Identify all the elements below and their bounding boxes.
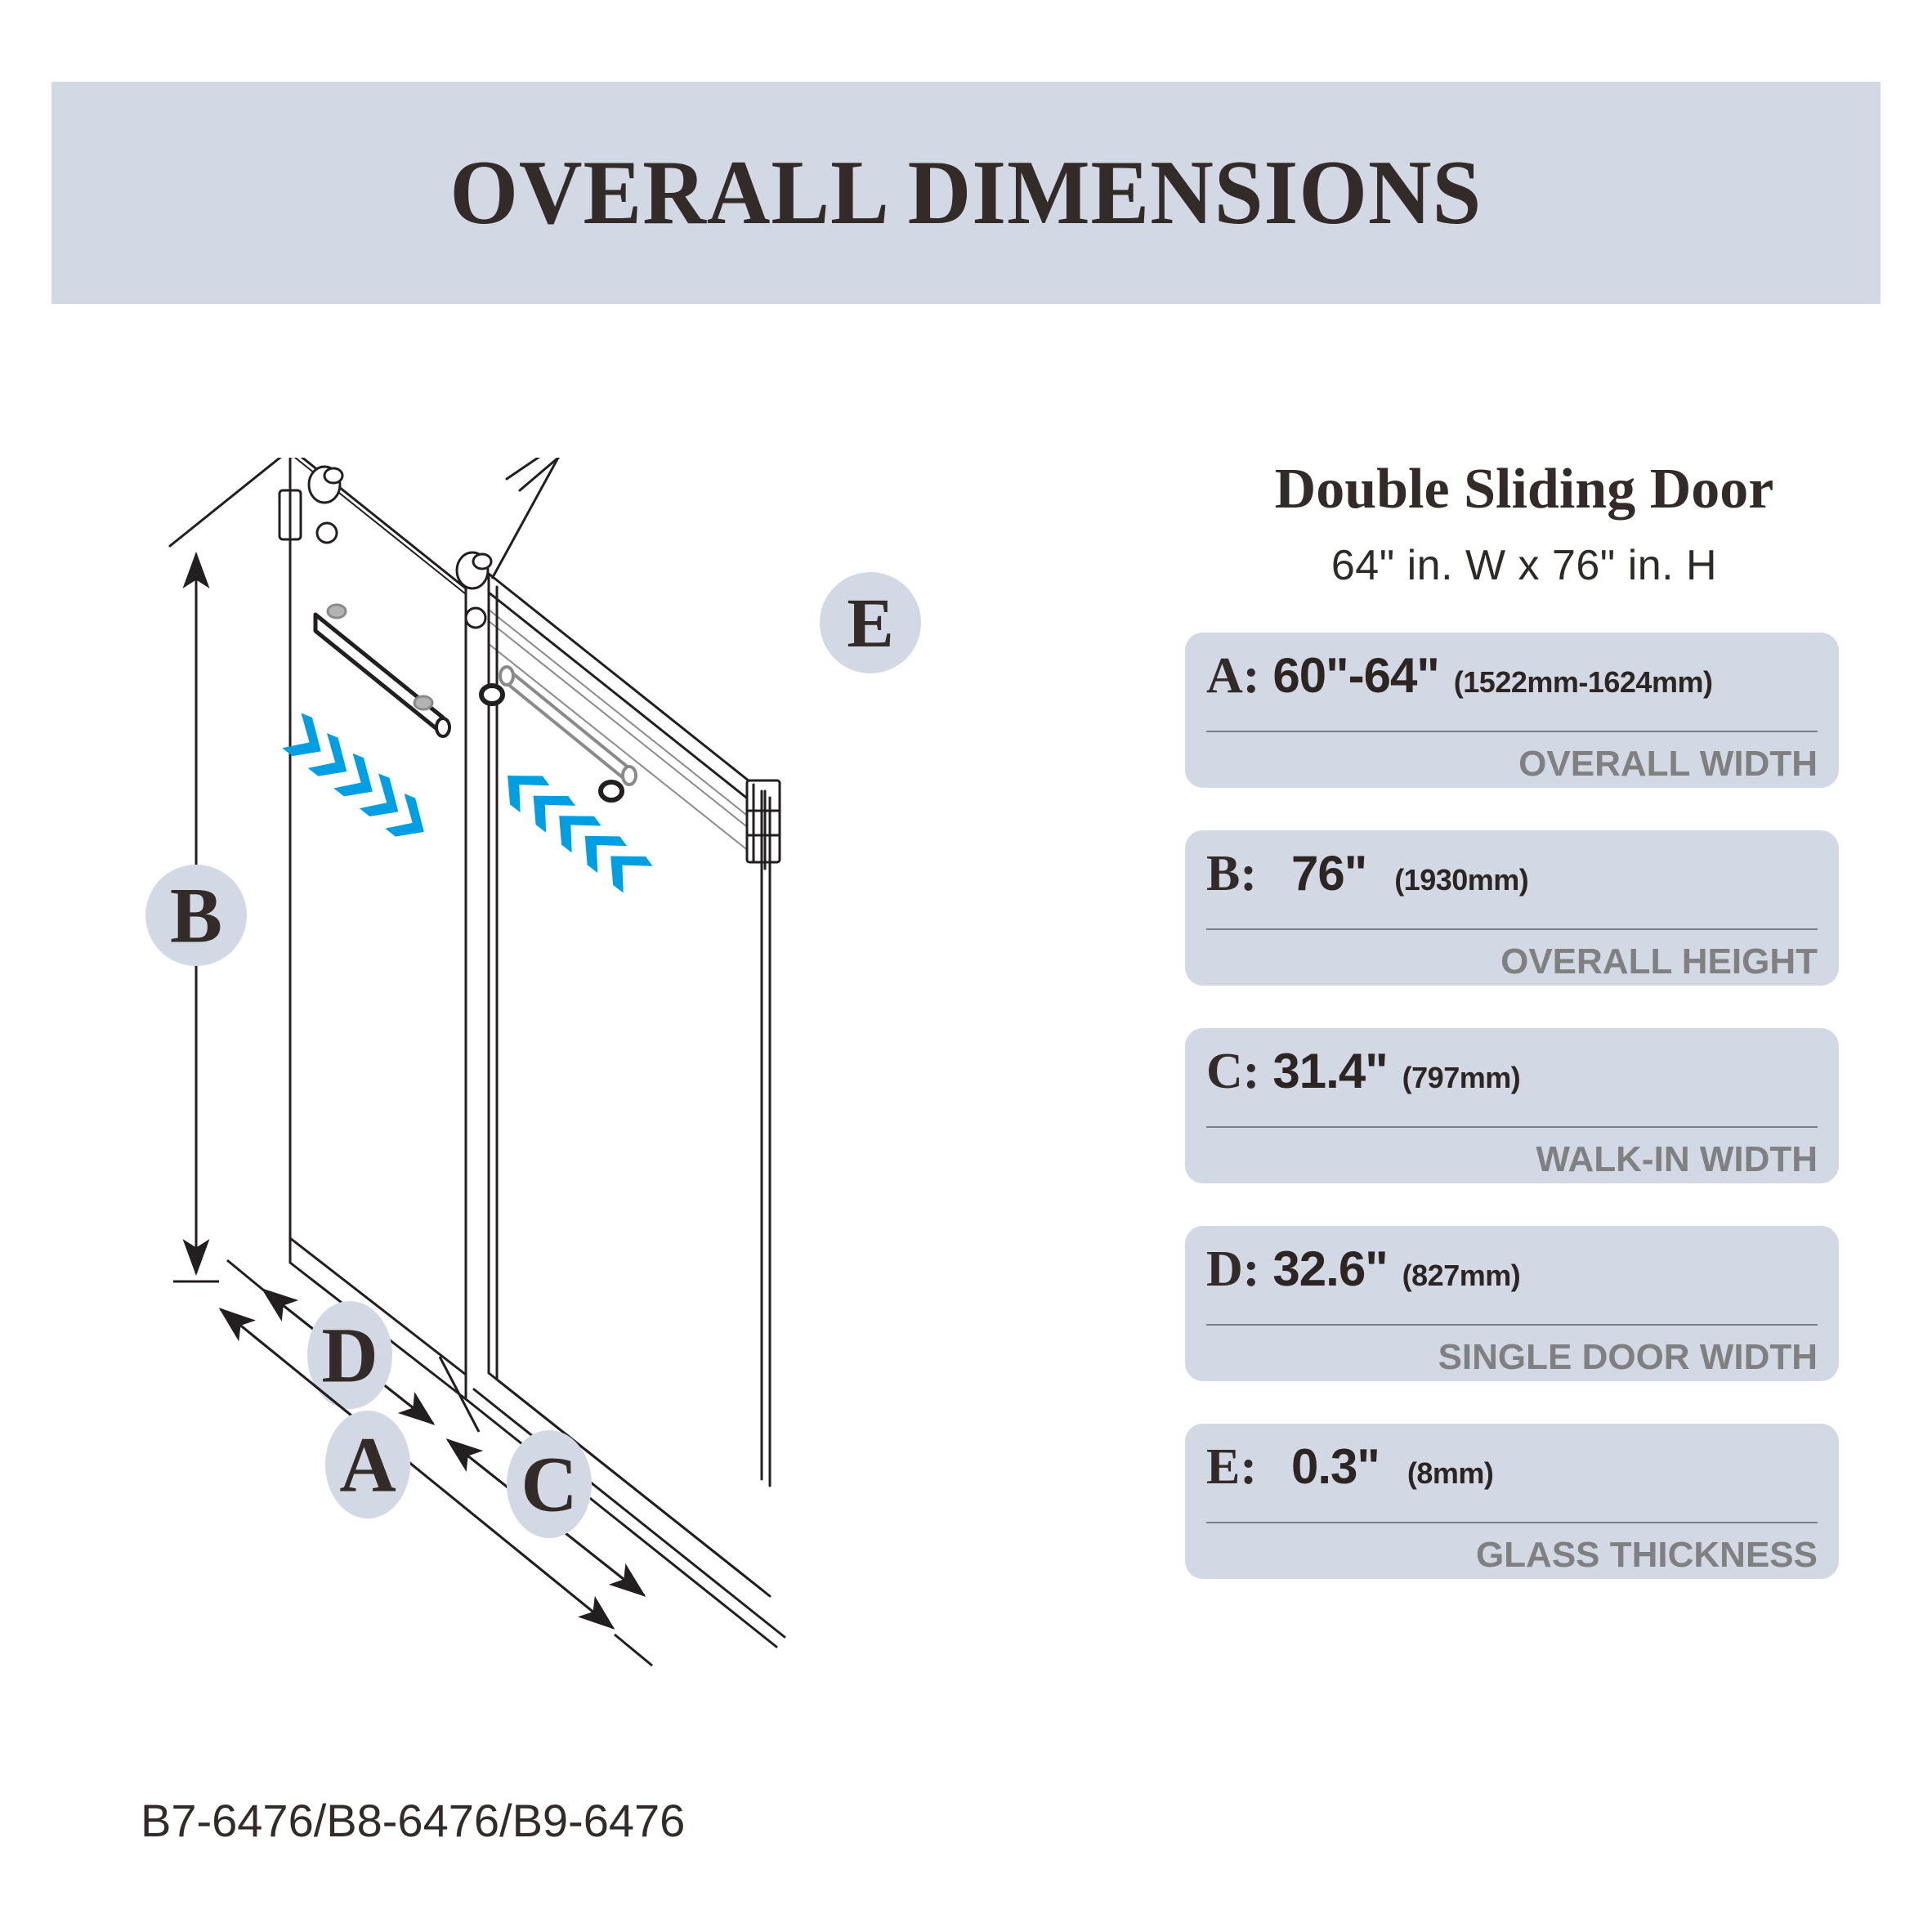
spec-divider-d [1206,1324,1818,1326]
badge-walk-in-width: C [507,1430,592,1538]
shower-door-diagram: B D C A [123,458,1169,1733]
spec-value-b: 76" [1291,845,1366,901]
spec-label-b: OVERALL HEIGHT [1500,941,1818,982]
spec-card-c: C: 31.4" (797mm) WALK-IN WIDTH [1185,1028,1839,1183]
badge-overall-width-label: A [339,1421,396,1509]
header-banner: OVERALL DIMENSIONS [51,82,1881,304]
spec-key-b: B: [1206,845,1257,903]
spec-card-d: D: 32.6" (827mm) SINGLE DOOR WIDTH [1185,1226,1839,1381]
wall-bracket [280,490,301,539]
wall-projection-line [170,458,290,546]
badge-glass-thickness-label: E [847,588,893,658]
rear-glass-panel [290,458,466,1375]
spec-divider-c [1206,1126,1818,1128]
spec-key-a: A: [1206,647,1259,705]
glass-hole-rear-right [466,608,485,628]
badge-height-label: B [170,872,222,959]
spec-divider-e [1206,1522,1818,1523]
e-leader-lines [492,458,577,579]
spec-metric-c: (797mm) [1402,1061,1521,1095]
spec-label-c: WALK-IN WIDTH [1536,1139,1818,1180]
handle-rear-panel [315,605,449,736]
badge-glass-thickness-overlay: E [820,572,921,673]
badge-height: B [145,865,247,966]
spec-value-e: 0.3" [1291,1438,1380,1495]
glass-hole-rear-left [317,523,337,543]
badge-single-door-width: D [307,1301,392,1409]
spec-metric-a: (1522mm-1624mm) [1454,665,1713,700]
product-title: Double Sliding Door [1185,458,1863,521]
badge-single-door-width-label: D [321,1312,378,1399]
spec-card-e: E: 0.3" (8mm) GLASS THICKNESS [1185,1424,1839,1579]
spec-metric-b: (1930mm) [1394,863,1528,897]
spec-divider-a [1206,731,1818,732]
spec-key-c: C: [1206,1043,1259,1101]
spec-key-d: D: [1206,1241,1259,1299]
spec-key-e: E: [1206,1438,1257,1496]
spec-divider-b [1206,928,1818,930]
slide-arrows-left-panel [277,710,437,848]
model-number: B7-6476/B8-6476/B9-6476 [141,1794,685,1847]
enclosure-line-art [170,458,785,1647]
spec-value-c: 31.4" [1272,1043,1387,1099]
spec-value-d: 32.6" [1272,1241,1387,1297]
spec-label-e: GLASS THICKNESS [1476,1535,1818,1576]
badge-overall-width: A [325,1411,410,1518]
spec-label-d: SINGLE DOOR WIDTH [1438,1337,1818,1378]
badge-walk-in-width-label: C [521,1441,577,1528]
spec-card-a: A: 60"-64" (1522mm-1624mm) OVERALL WIDTH [1185,633,1839,788]
handle-front-panel [481,667,636,800]
spec-value-a: 60"-64" [1272,647,1438,704]
header-track-bar [489,574,780,869]
spec-metric-e: (8mm) [1407,1456,1494,1491]
spec-card-b: B: 76" (1930mm) OVERALL HEIGHT [1185,830,1839,986]
specification-panel: Double Sliding Door 64" in. W x 76" in. … [1185,458,1863,1579]
page-title: OVERALL DIMENSIONS [450,141,1483,246]
roller-wheel-rear-left [309,467,342,503]
spec-metric-d: (827mm) [1402,1259,1521,1293]
spec-label-a: OVERALL WIDTH [1518,744,1818,785]
product-size: 64" in. W x 76" in. H [1185,541,1863,590]
roller-wheel-rear-right [457,552,491,588]
glass-thickness-leader [474,458,585,490]
